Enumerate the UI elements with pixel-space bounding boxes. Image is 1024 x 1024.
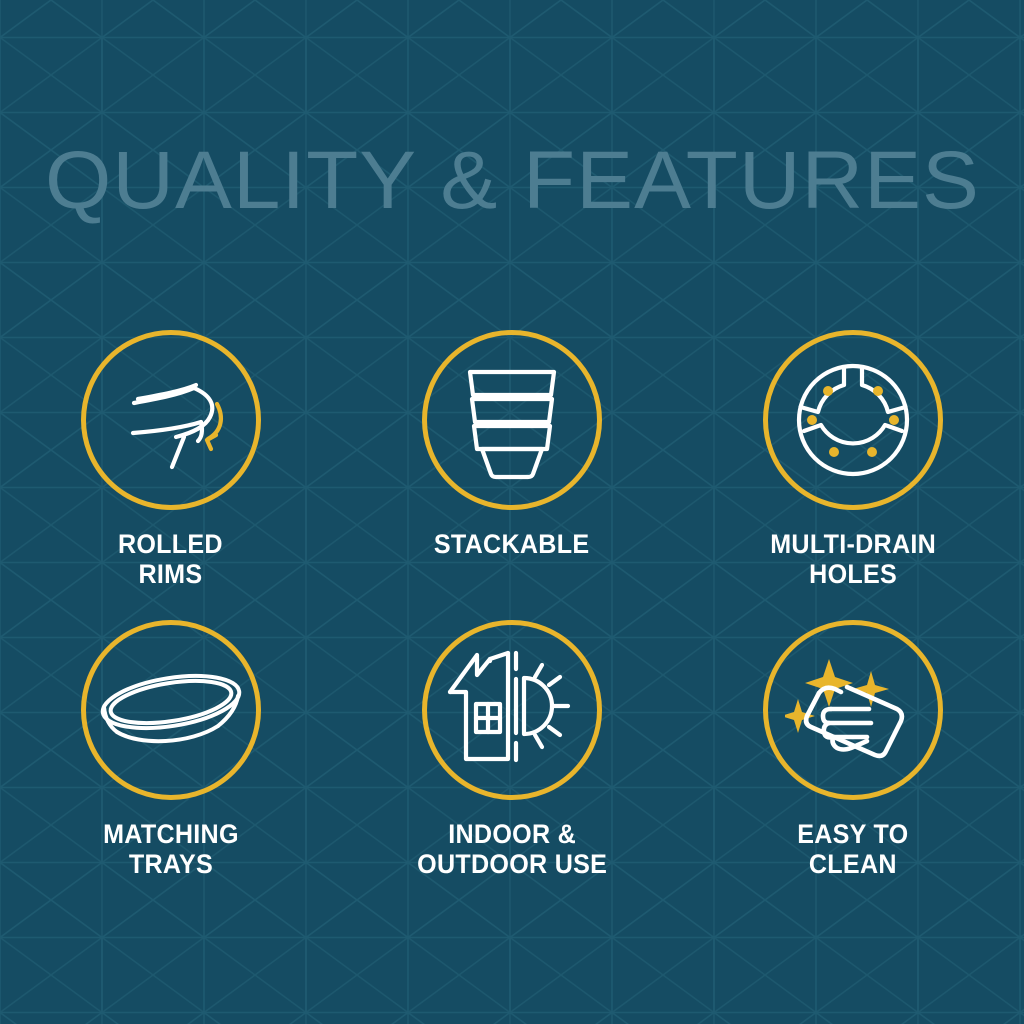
feature-label-stackable: STACKABLE bbox=[434, 529, 589, 559]
rolled-rim-icon bbox=[106, 355, 236, 485]
feature-easy-to-clean: EASY TO CLEAN bbox=[683, 620, 1024, 910]
feature-rolled-rims: ROLLED RIMS bbox=[0, 330, 341, 620]
icon-ring-multi-drain-holes bbox=[763, 330, 943, 510]
feature-label-indoor-outdoor-use: INDOOR & OUTDOOR USE bbox=[417, 819, 607, 879]
feature-label-matching-trays: MATCHING TRAYS bbox=[103, 819, 239, 879]
house-sun-icon bbox=[446, 647, 578, 773]
feature-matching-trays: MATCHING TRAYS bbox=[0, 620, 341, 910]
saucer-tray-icon bbox=[98, 650, 244, 770]
feature-label-multi-drain-holes: MULTI-DRAIN HOLES bbox=[770, 529, 936, 589]
page-title-text: QUALITY & FEATURES bbox=[45, 140, 980, 222]
icon-ring-indoor-outdoor-use bbox=[422, 620, 602, 800]
feature-indoor-outdoor-use: INDOOR & OUTDOOR USE bbox=[341, 620, 682, 910]
icon-ring-easy-to-clean bbox=[763, 620, 943, 800]
icon-ring-rolled-rims bbox=[81, 330, 261, 510]
hand-wiping-sparkle-icon bbox=[785, 647, 921, 773]
page-title: QUALITY & FEATURES bbox=[0, 140, 1024, 222]
icon-ring-matching-trays bbox=[81, 620, 261, 800]
icon-ring-stackable bbox=[422, 330, 602, 510]
feature-grid: ROLLED RIMS STACKABLE bbox=[0, 330, 1024, 910]
stacked-pots-icon bbox=[448, 356, 576, 484]
feature-multi-drain-holes: MULTI-DRAIN HOLES bbox=[683, 330, 1024, 620]
feature-label-rolled-rims: ROLLED RIMS bbox=[118, 529, 223, 589]
feature-label-easy-to-clean: EASY TO CLEAN bbox=[798, 819, 909, 879]
drain-holes-icon bbox=[788, 355, 918, 485]
feature-stackable: STACKABLE bbox=[341, 330, 682, 620]
